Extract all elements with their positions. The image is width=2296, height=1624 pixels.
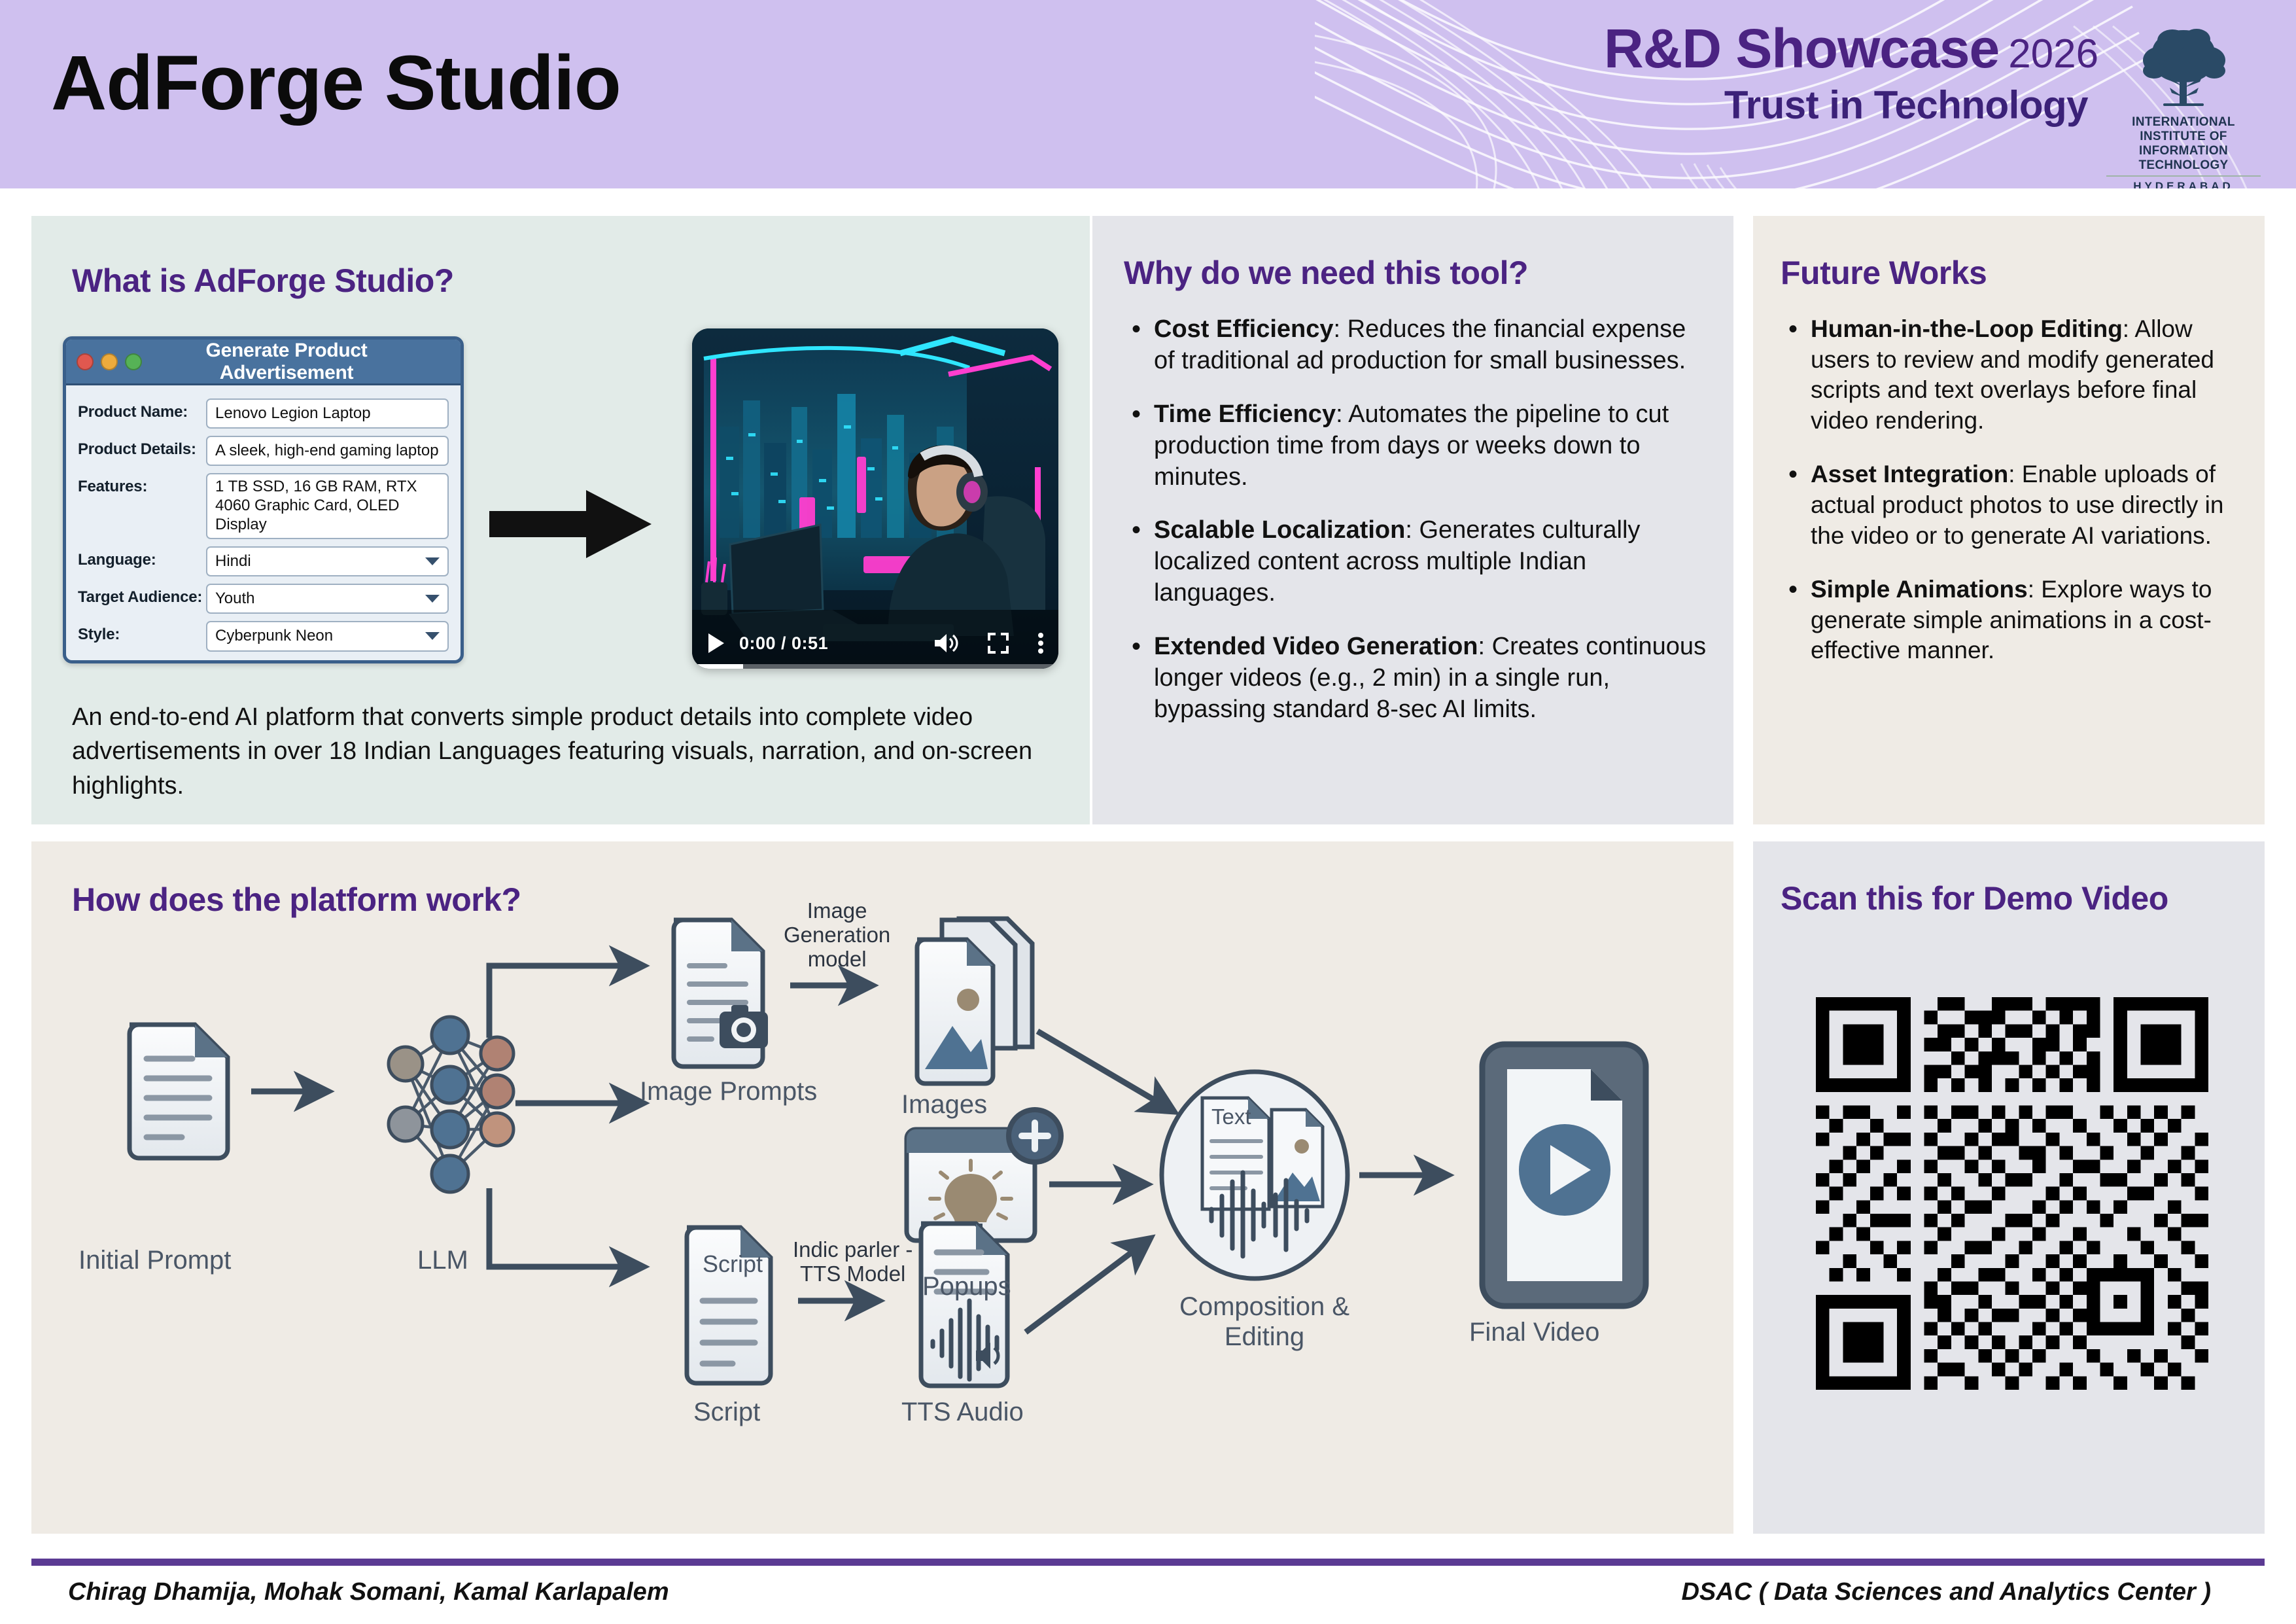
logo-institute-name: INTERNATIONAL INSTITUTE OF INFORMATION T… xyxy=(2100,115,2267,172)
why-bullet-list: Cost Efficiency: Reduces the financial e… xyxy=(1124,314,1707,726)
node-initial-prompt-icon xyxy=(130,1025,228,1158)
form-row-language: Language: Hindi xyxy=(78,546,449,576)
list-item: Cost Efficiency: Reduces the financial e… xyxy=(1124,314,1707,377)
node-final-video-icon xyxy=(1482,1044,1646,1306)
node-script-icon: Script xyxy=(687,1227,771,1383)
demo-video-player[interactable]: 0:00 / 0:51 xyxy=(692,328,1058,669)
window-titlebar: Generate Product Advertisement xyxy=(66,340,461,385)
video-progress-bar[interactable] xyxy=(692,664,1058,669)
logo-city: HYDERABAD xyxy=(2100,180,2267,188)
label-style: Style: xyxy=(78,621,206,644)
label-language: Language: xyxy=(78,546,206,569)
panel-why-we-need-this-tool: Why do we need this tool? Cost Efficienc… xyxy=(1092,216,1733,824)
list-item: Simple Animations: Explore ways to gener… xyxy=(1781,574,2248,666)
select-style[interactable]: Cyberpunk Neon xyxy=(206,621,449,651)
label-product-details: Product Details: xyxy=(78,436,206,459)
play-icon[interactable] xyxy=(706,632,726,654)
form-row-product-name: Product Name: Lenovo Legion Laptop xyxy=(78,398,449,429)
input-product-name[interactable]: Lenovo Legion Laptop xyxy=(206,398,449,429)
panel-future-works: Future Works Human-in-the-Loop Editing: … xyxy=(1753,216,2265,824)
label-initial-prompt: Initial Prompt xyxy=(78,1246,231,1275)
event-branding: R&D Showcase2026 Trust in Technology xyxy=(1604,21,2088,128)
form-row-style: Style: Cyberpunk Neon xyxy=(78,621,449,651)
generate-product-advertisement-window[interactable]: Generate Product Advertisement Product N… xyxy=(63,336,464,663)
panel-how-platform-works: How does the platform work? xyxy=(31,841,1733,1534)
label-image-prompts: Image Prompts xyxy=(640,1077,817,1106)
list-item: Extended Video Generation: Creates conti… xyxy=(1124,631,1707,726)
page-title: AdForge Studio xyxy=(51,44,621,122)
edge-label-image-generation-model: Image Generation model xyxy=(784,899,890,972)
arrow-llm-to-script xyxy=(489,1188,640,1267)
value-features: 1 TB SSD, 16 GB RAM, RTX 4060 Graphic Ca… xyxy=(215,478,440,534)
maximize-icon[interactable] xyxy=(125,353,142,370)
value-product-details: A sleek, high-end gaming laptop xyxy=(215,441,439,461)
more-options-icon[interactable] xyxy=(1037,632,1044,654)
qr-code[interactable] xyxy=(1816,997,2208,1390)
what-description: An end-to-end AI platform that converts … xyxy=(72,700,1040,803)
label-tts-audio: TTS Audio xyxy=(901,1398,1024,1427)
value-product-name: Lenovo Legion Laptop xyxy=(215,404,371,423)
input-features[interactable]: 1 TB SSD, 16 GB RAM, RTX 4060 Graphic Ca… xyxy=(206,473,449,538)
label-target-audience: Target Audience: xyxy=(78,584,206,607)
video-time-display: 0:00 / 0:51 xyxy=(739,633,828,654)
iiit-hyderabad-logo: INTERNATIONAL INSTITUTE OF INFORMATION T… xyxy=(2100,24,2267,188)
minimize-icon[interactable] xyxy=(101,353,118,370)
event-year: 2026 xyxy=(2008,31,2098,77)
value-target-audience: Youth xyxy=(215,589,255,609)
footer-center: DSAC ( Data Sciences and Analytics Cente… xyxy=(1681,1578,2211,1606)
panel-title-why: Why do we need this tool? xyxy=(1124,254,1733,292)
select-language[interactable]: Hindi xyxy=(206,546,449,576)
logo-divider xyxy=(2106,175,2261,177)
volume-icon[interactable] xyxy=(933,632,959,654)
label-features: Features: xyxy=(78,473,206,496)
label-popups: Popups xyxy=(922,1272,1011,1301)
tree-icon xyxy=(2134,24,2233,114)
bullet-term: Time Efficiency xyxy=(1154,400,1336,428)
node-llm-icon xyxy=(389,1017,513,1192)
arrow-llm-to-image-prompts xyxy=(489,966,640,1038)
event-name: R&D Showcase xyxy=(1604,18,1999,79)
fullscreen-icon[interactable] xyxy=(988,633,1009,654)
bullet-term: Extended Video Generation xyxy=(1154,633,1478,660)
script-doc-label: Script xyxy=(703,1250,763,1277)
label-composition: Composition & Editing xyxy=(1157,1292,1372,1352)
form-row-features: Features: 1 TB SSD, 16 GB RAM, RTX 4060 … xyxy=(78,473,449,538)
poster-header: AdForge Studio R&D Showcase2026 Trust in… xyxy=(0,0,2296,188)
panel-title-qr: Scan this for Demo Video xyxy=(1781,879,2265,917)
bullet-term: Asset Integration xyxy=(1811,461,2008,487)
select-target-audience[interactable]: Youth xyxy=(206,584,449,614)
bullet-term: Human-in-the-Loop Editing xyxy=(1811,315,2123,342)
value-language: Hindi xyxy=(215,552,251,571)
panel-title-what: What is AdForge Studio? xyxy=(72,262,1090,300)
arrow-images-to-composition xyxy=(1037,1031,1171,1110)
window-title: Generate Product Advertisement xyxy=(149,340,424,384)
panel-scan-demo-video: Scan this for Demo Video xyxy=(1753,841,2265,1534)
chevron-down-icon[interactable] xyxy=(425,557,440,565)
qr-code-image[interactable] xyxy=(1816,997,2208,1390)
node-composition-icon: Text xyxy=(1162,1072,1348,1279)
form-row-product-details: Product Details: A sleek, high-end gamin… xyxy=(78,436,449,466)
value-style: Cyberpunk Neon xyxy=(215,626,333,646)
composition-text-label: Text xyxy=(1211,1104,1251,1129)
window-form-body: Product Name: Lenovo Legion Laptop Produ… xyxy=(66,385,461,663)
node-image-prompts-icon xyxy=(674,920,768,1067)
event-tagline: Trust in Technology xyxy=(1604,82,2088,128)
flow-arrow-icon xyxy=(489,487,653,561)
panel-what-is-adforge: What is AdForge Studio? Generate Product… xyxy=(31,216,1090,824)
edge-label-indic-parler-tts-model: Indic parler - TTS Model xyxy=(793,1238,913,1286)
label-script: Script xyxy=(693,1398,760,1427)
node-images-icon xyxy=(917,919,1032,1084)
add-badge-icon xyxy=(1006,1107,1064,1165)
list-item: Time Efficiency: Automates the pipeline … xyxy=(1124,399,1707,493)
pipeline-diagram: Script xyxy=(31,913,1733,1522)
footer-authors: Chirag Dhamija, Mohak Somani, Kamal Karl… xyxy=(68,1578,669,1606)
footer-divider xyxy=(31,1559,2265,1566)
bullet-term: Scalable Localization xyxy=(1154,516,1405,544)
what-visual-row: Generate Product Advertisement Product N… xyxy=(31,314,1090,680)
input-product-details[interactable]: A sleek, high-end gaming laptop xyxy=(206,436,449,466)
bullet-term: Cost Efficiency xyxy=(1154,315,1334,343)
poster-root: AdForge Studio R&D Showcase2026 Trust in… xyxy=(0,0,2296,1624)
submit-button[interactable]: Submit xyxy=(80,661,446,663)
node-tts-audio-icon xyxy=(921,1224,1007,1386)
list-item: Human-in-the-Loop Editing: Allow users t… xyxy=(1781,314,2248,436)
label-llm: LLM xyxy=(417,1246,468,1275)
chevron-down-icon[interactable] xyxy=(425,632,440,640)
video-control-bar[interactable]: 0:00 / 0:51 xyxy=(692,618,1058,669)
label-final-video: Final Video xyxy=(1469,1318,1599,1347)
chevron-down-icon[interactable] xyxy=(425,595,440,603)
close-icon[interactable] xyxy=(77,353,94,370)
label-images: Images xyxy=(901,1090,987,1120)
bullet-term: Simple Animations xyxy=(1811,576,2028,603)
list-item: Asset Integration: Enable uploads of act… xyxy=(1781,459,2248,551)
arrow-tts-to-composition xyxy=(1026,1241,1147,1332)
list-item: Scalable Localization: Generates cultura… xyxy=(1124,515,1707,609)
panel-title-future: Future Works xyxy=(1781,254,2265,292)
label-product-name: Product Name: xyxy=(78,398,206,421)
form-row-target-audience: Target Audience: Youth xyxy=(78,584,449,614)
future-bullet-list: Human-in-the-Loop Editing: Allow users t… xyxy=(1781,314,2248,666)
pipeline-graphics: Script xyxy=(31,913,1733,1522)
